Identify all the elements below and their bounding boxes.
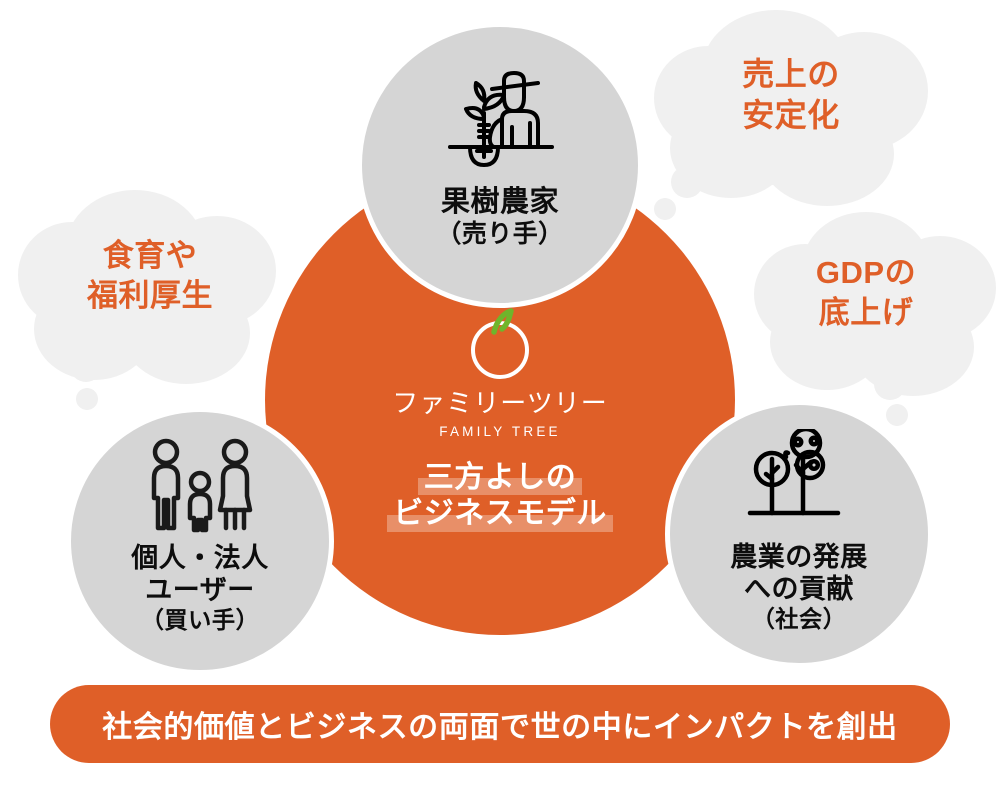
node-society-label-main: 農業の発展 bbox=[730, 542, 868, 572]
node-buyer-label-main2: ユーザー bbox=[145, 575, 254, 605]
tagline-line-1-text: 三方よしの bbox=[424, 461, 577, 494]
bubble-line-1: 食育や bbox=[103, 238, 198, 273]
two-trees-icon bbox=[744, 429, 854, 537]
cloud-tail-dot-large bbox=[874, 368, 906, 400]
bubble-line-1: GDPの bbox=[816, 255, 916, 290]
thought-bubble-gdp-boost: GDPの 底上げ bbox=[748, 210, 1000, 432]
cloud-tail-dot-small bbox=[76, 388, 98, 410]
cloud-tail-dot-small bbox=[886, 404, 908, 426]
brand-name-jp: ファミリーツリー bbox=[370, 390, 630, 416]
center-brand-block: ファミリーツリー FAMILY TREE 三方よしの ビジネスモデル bbox=[370, 300, 630, 533]
cloud-tail-dot-large bbox=[70, 350, 102, 382]
family-three-people-icon bbox=[140, 438, 260, 538]
center-tagline: 三方よしの ビジネスモデル bbox=[370, 460, 630, 533]
node-seller-label: 果樹農家 （売り手） bbox=[436, 185, 563, 250]
thought-bubble-sales-stability: 売上の 安定化 bbox=[640, 6, 970, 236]
node-seller[interactable]: 果樹農家 （売り手） bbox=[357, 22, 643, 308]
node-society[interactable]: 農業の発展 への貢献 （社会） bbox=[665, 400, 933, 668]
bottom-banner-text: 社会的価値とビジネスの両面で世の中にインパクトを創出 bbox=[102, 702, 898, 746]
node-society-label-sub: （社会） bbox=[730, 606, 868, 634]
thought-bubble-text: 食育や 福利厚生 bbox=[8, 236, 298, 315]
tagline-line-2: ビジネスモデル bbox=[370, 496, 630, 533]
tagline-line-1: 三方よしの bbox=[370, 460, 630, 497]
thought-bubble-text: GDPの 底上げ bbox=[748, 253, 1000, 332]
node-society-label: 農業の発展 への貢献 （社会） bbox=[730, 541, 868, 634]
node-buyer-label-main: 個人・法人 bbox=[131, 543, 269, 573]
thought-bubble-food-education: 食育や 福利厚生 bbox=[8, 188, 298, 418]
node-seller-label-main: 果樹農家 bbox=[441, 186, 559, 218]
farmer-with-seedling-icon bbox=[426, 61, 574, 179]
orange-fruit-outline-icon bbox=[464, 300, 536, 382]
bubble-line-2: 底上げ bbox=[819, 295, 914, 330]
cloud-tail-dot-small bbox=[654, 198, 676, 220]
node-seller-label-sub: （売り手） bbox=[436, 220, 563, 250]
brand-name-en: FAMILY TREE bbox=[370, 425, 630, 439]
infographic-canvas: 売上の 安定化 食育や 福利厚生 GDPの 底上げ bbox=[0, 0, 1000, 798]
node-buyer[interactable]: 個人・法人 ユーザー （買い手） bbox=[66, 407, 334, 675]
node-society-label-main2: への貢献 bbox=[744, 574, 854, 604]
bubble-line-2: 福利厚生 bbox=[87, 278, 213, 313]
bubble-line-1: 売上の bbox=[742, 56, 840, 92]
cloud-tail-dot-large bbox=[671, 166, 703, 198]
bottom-banner: 社会的価値とビジネスの両面で世の中にインパクトを創出 bbox=[50, 685, 950, 763]
node-buyer-label: 個人・法人 ユーザー （買い手） bbox=[131, 542, 269, 635]
node-buyer-label-sub: （買い手） bbox=[131, 607, 269, 635]
thought-bubble-text: 売上の 安定化 bbox=[640, 54, 970, 136]
bubble-line-2: 安定化 bbox=[742, 97, 840, 133]
tagline-line-2-text: ビジネスモデル bbox=[393, 497, 607, 530]
